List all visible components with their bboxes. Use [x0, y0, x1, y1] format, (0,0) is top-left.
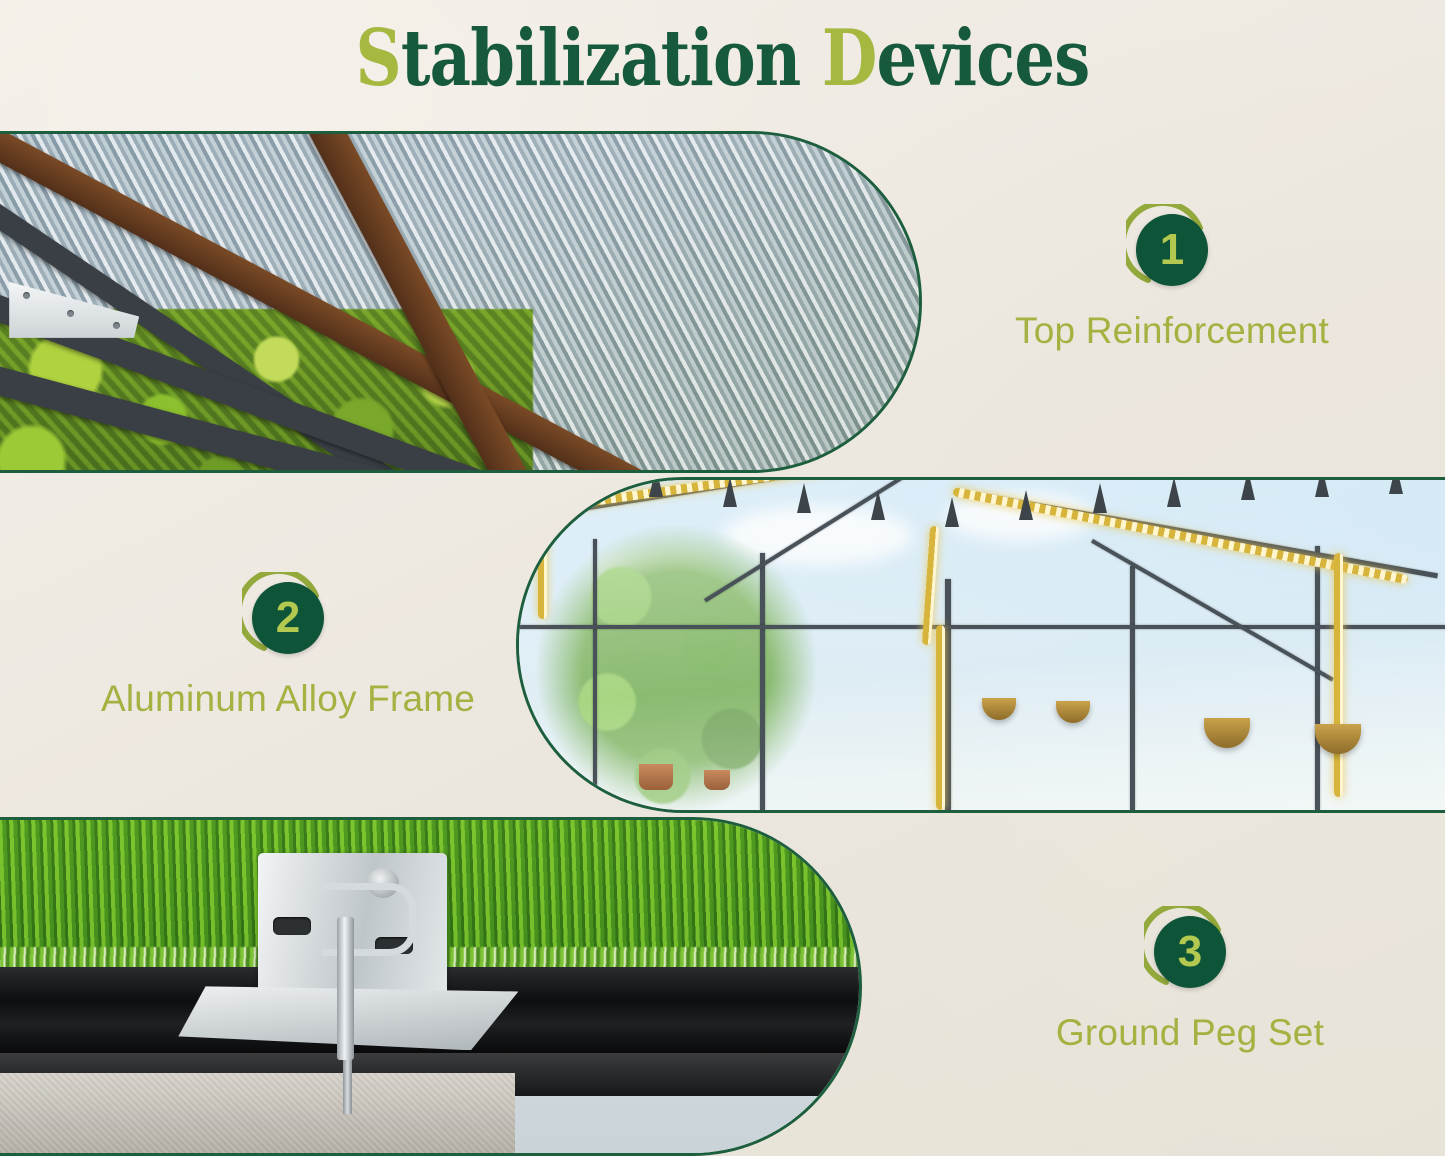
badge-number: 3 [1154, 916, 1226, 988]
ground-peg-photo [0, 820, 859, 1153]
feature-block-2: 2 Aluminum Alloy Frame [18, 572, 558, 720]
threaded-rod [337, 917, 354, 1060]
plant-pot [639, 764, 673, 790]
glass-panel-layer [519, 480, 1445, 810]
title-word-one-rest: tabilization [401, 13, 801, 104]
feature-label-3: Ground Peg Set [980, 1012, 1400, 1054]
led-strip [1334, 553, 1343, 797]
frame-rail [519, 625, 1445, 629]
ground-peg-bracket [258, 853, 447, 1099]
roof-finial [1315, 480, 1329, 497]
feature-block-3: 3 Ground Peg Set [980, 906, 1400, 1054]
roof-finial [1241, 480, 1255, 500]
title-initial-d: D [822, 13, 877, 104]
roof-finial [871, 490, 885, 520]
step-badge-3: 3 [1144, 906, 1236, 998]
feature-label-2: Aluminum Alloy Frame [18, 678, 558, 720]
roof-finial [649, 480, 663, 497]
roof-finial [1389, 480, 1403, 494]
led-strip [936, 625, 945, 810]
feature-block-1: 1 Top Reinforcement [912, 204, 1432, 352]
frame-mullion [945, 579, 951, 810]
roof-finial [797, 483, 811, 513]
page-title: Stabilization Devices [130, 18, 1315, 100]
roof-finial [575, 480, 589, 503]
plant-pot [704, 770, 730, 790]
roof-finial [1093, 483, 1107, 513]
frame-mullion [593, 539, 597, 810]
step-badge-1: 1 [1126, 204, 1218, 296]
bracket-slot [273, 917, 311, 934]
frame-mullion [1130, 566, 1135, 810]
infographic-root: Stabilization Devices [0, 0, 1445, 1156]
feature-photo-3 [0, 817, 862, 1156]
feature-photo-2 [516, 477, 1445, 813]
roof-finial [723, 480, 737, 507]
feature-photo-1 [0, 131, 922, 473]
roof-finial [1167, 480, 1181, 507]
roof-finial [945, 497, 959, 527]
ground-stake [343, 1060, 352, 1114]
badge-number: 1 [1136, 214, 1208, 286]
feature-label-1: Top Reinforcement [912, 310, 1432, 352]
glass-greenhouse-photo [519, 480, 1445, 810]
title-word-two-rest: evices [877, 13, 1090, 104]
frame-mullion [760, 553, 765, 810]
roof-finial [1019, 490, 1033, 520]
step-badge-2: 2 [242, 572, 334, 664]
badge-number: 2 [252, 582, 324, 654]
u-bolt [322, 883, 416, 956]
frame-mullion [1315, 546, 1320, 810]
title-initial-s: S [356, 13, 401, 104]
greenhouse-roof-photo [0, 134, 919, 470]
